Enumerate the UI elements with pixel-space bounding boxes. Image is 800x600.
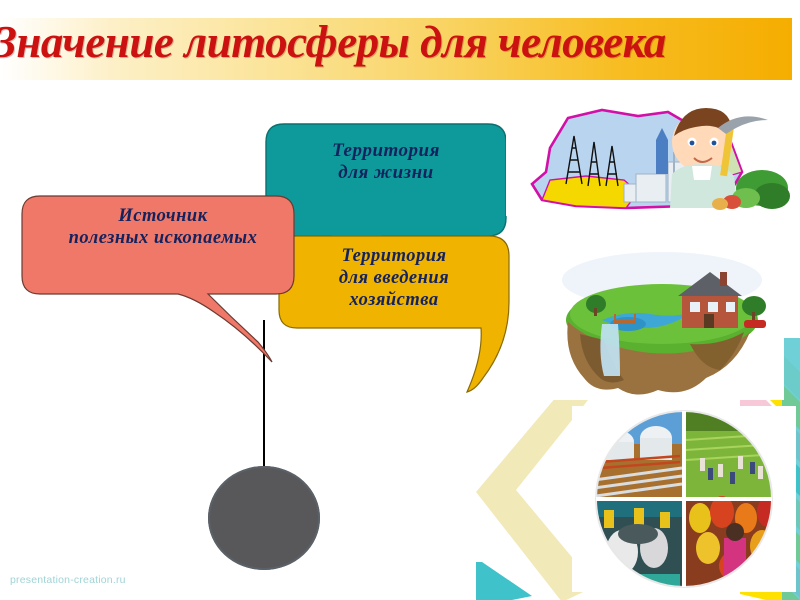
callout-source-of-minerals[interactable]: Источник полезных ископаемых bbox=[18, 192, 308, 372]
placeholder-ellipse[interactable] bbox=[208, 466, 320, 570]
image-boy-with-pickaxe-over-region-map bbox=[506, 88, 794, 216]
slide-canvas: Значение литосферы для человека bbox=[0, 0, 800, 600]
callout-territory-for-economy[interactable]: Территория для введения хозяйства bbox=[277, 232, 517, 392]
callout-label-territory-for-economy: Территория для введения хозяйства bbox=[283, 246, 505, 311]
callout-label-territory-for-life: Территория для жизни bbox=[276, 140, 496, 185]
image-round-four-quadrant-collage bbox=[572, 406, 796, 592]
callout-label-source-of-minerals: Источник полезных ископаемых bbox=[0, 206, 330, 250]
page-title: Значение литосферы для человека bbox=[0, 16, 800, 68]
image-floating-island-with-house bbox=[540, 228, 784, 400]
watermark: presentation-creation.ru bbox=[10, 574, 126, 586]
